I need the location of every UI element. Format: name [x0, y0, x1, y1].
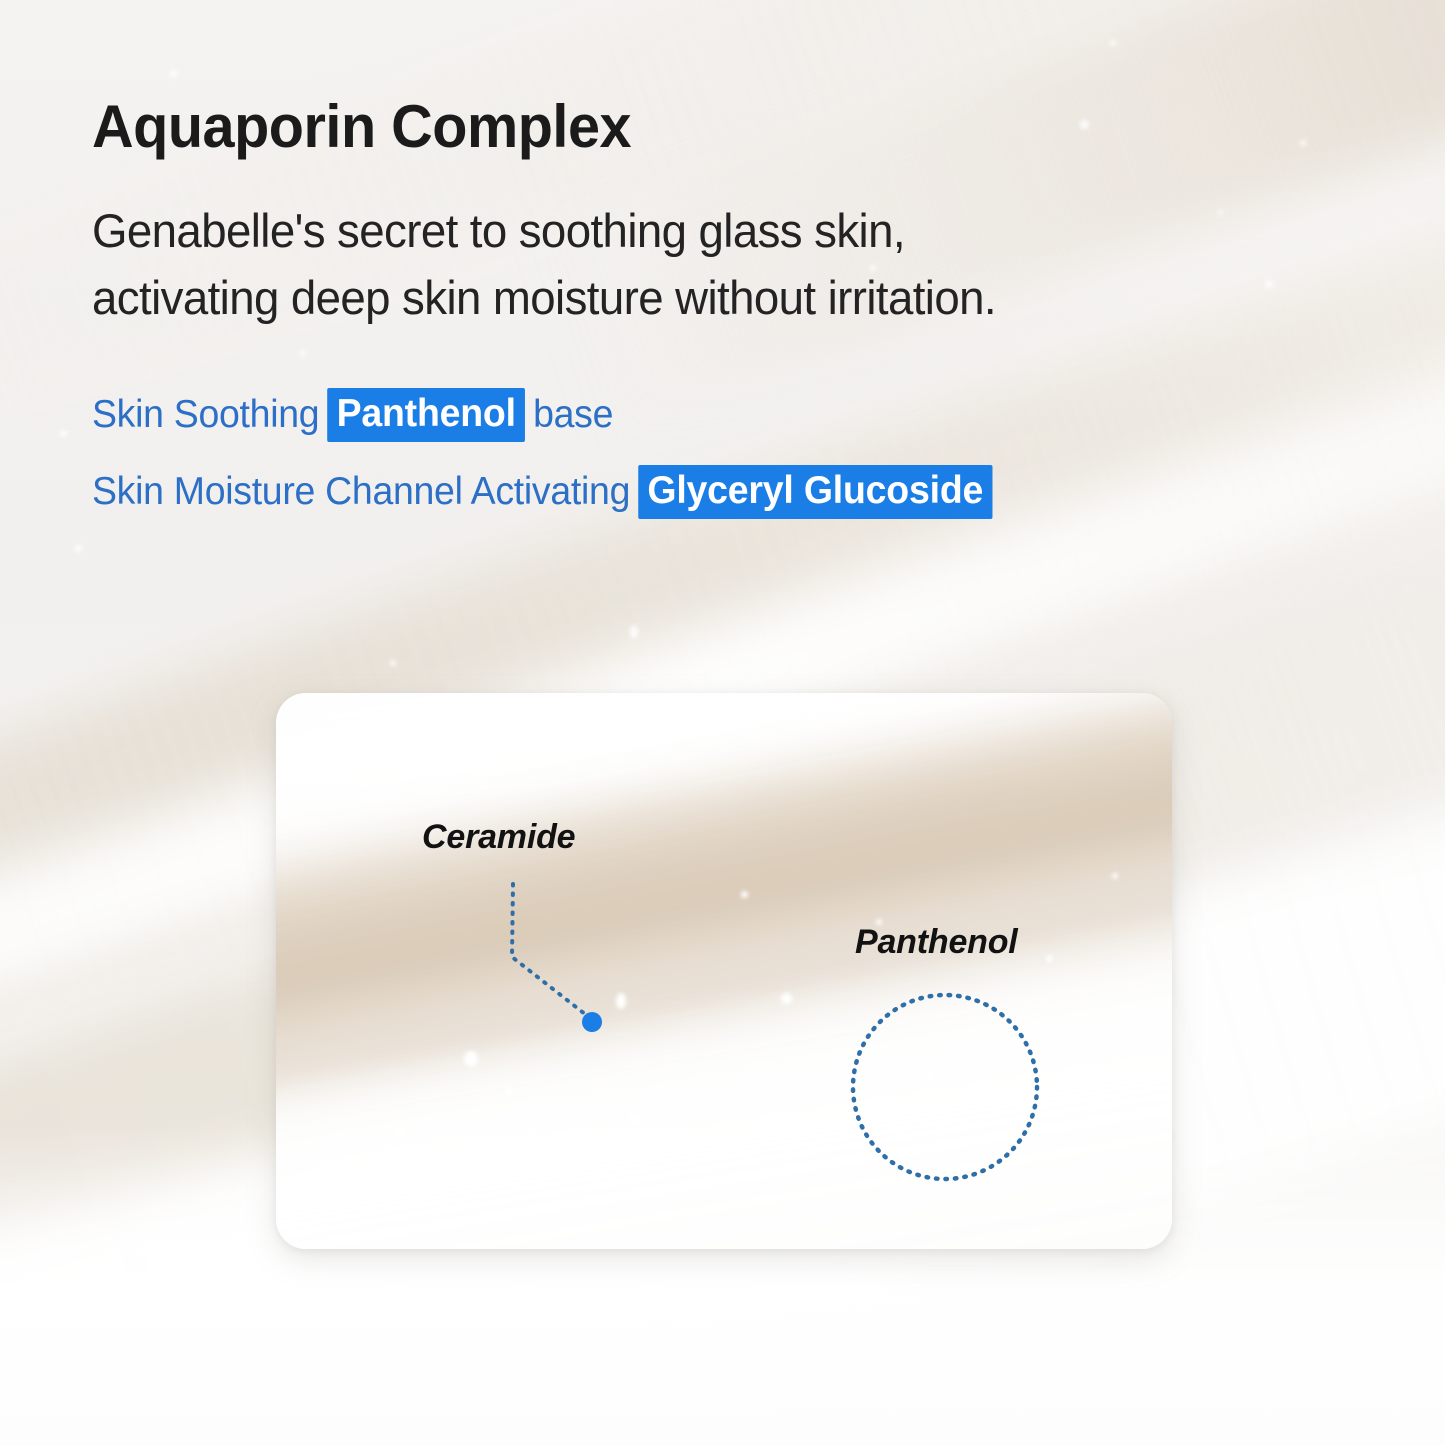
- subtitle-line-1: Genabelle's secret to soothing glass ski…: [92, 203, 905, 258]
- cream-speck: [926, 1071, 935, 1080]
- cream-speck: [394, 1129, 406, 1141]
- ingredient-highlight-panthenol: Panthenol: [327, 388, 525, 442]
- benefit-prefix: Skin Soothing: [92, 393, 319, 437]
- sparkle-dot: [390, 660, 396, 666]
- cream-speck: [1046, 955, 1053, 962]
- subtitle-line-2: activating deep skin moisture without ir…: [92, 270, 996, 325]
- sparkle-dot: [75, 545, 82, 552]
- product-detail-panel: Aquaporin Complex Genabelle's secret to …: [0, 0, 1445, 1445]
- ingredient-photo-card: [276, 693, 1172, 1249]
- card-label-ceramide: Ceramide: [422, 818, 575, 857]
- cream-speck: [1112, 873, 1118, 879]
- cream-speck: [464, 1051, 478, 1067]
- cream-speck: [616, 993, 626, 1009]
- cream-speck: [504, 1087, 513, 1096]
- sparkle-dot: [630, 625, 638, 639]
- sparkle-dot: [170, 70, 177, 77]
- benefit-row-glyceryl-glucoside: Skin Moisture Channel Activating Glycery…: [92, 465, 1000, 519]
- cream-speck: [781, 993, 792, 1004]
- sparkle-dot: [1080, 120, 1089, 129]
- cream-speck: [1018, 1025, 1026, 1035]
- page-title: Aquaporin Complex: [92, 92, 631, 161]
- ingredient-highlight-glyceryl-glucoside: Glyceryl Glucoside: [638, 465, 993, 519]
- benefit-row-panthenol: Skin Soothing Panthenol base: [92, 388, 613, 442]
- card-label-panthenol: Panthenol: [855, 923, 1018, 962]
- sparkle-dot: [1218, 210, 1223, 215]
- benefit-prefix: Skin Moisture Channel Activating: [92, 470, 630, 514]
- benefit-suffix: base: [533, 393, 613, 437]
- cream-speck: [674, 1139, 684, 1149]
- cream-speck: [628, 1113, 644, 1126]
- sparkle-dot: [60, 430, 67, 437]
- sparkle-dot: [1110, 40, 1116, 46]
- sparkle-dot: [1265, 280, 1273, 288]
- sparkle-dot: [1300, 140, 1306, 146]
- sparkle-dot: [300, 350, 306, 356]
- cream-speck: [741, 891, 748, 898]
